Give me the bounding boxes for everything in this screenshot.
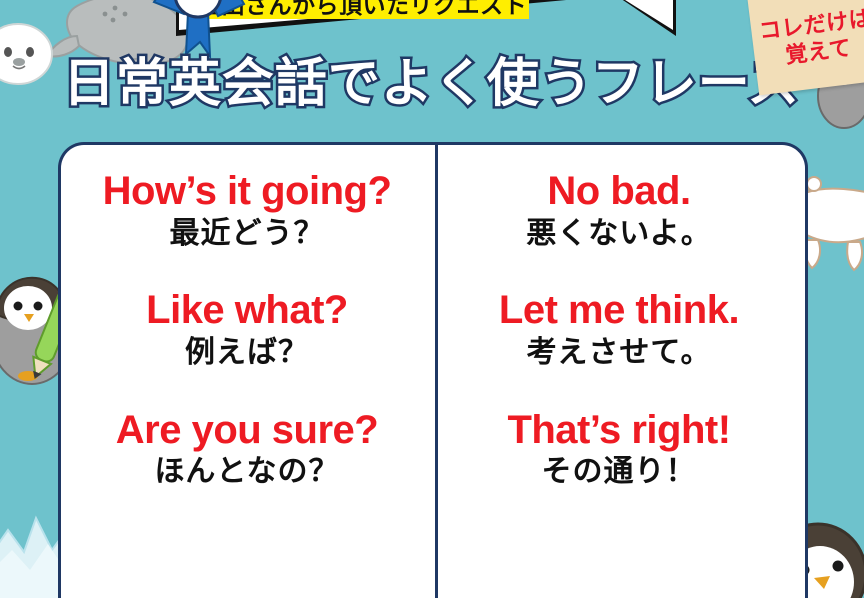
page-title: 日常英会話でよく使うフレーズ	[0, 56, 864, 113]
phrase-column-left: How’s it going? 最近どう？ Like what? 例えば？ Ar…	[61, 145, 433, 598]
phrase-japanese: 最近どう？	[61, 215, 433, 253]
phrase-english: That’s right!	[433, 408, 805, 453]
phrase-item: No bad. 悪くないよ。	[433, 169, 805, 252]
phrase-item: How’s it going? 最近どう？	[61, 169, 433, 252]
phrase-column-right: No bad. 悪くないよ。 Let me think. 考えさせて。 That…	[433, 145, 805, 598]
phrase-item: Let me think. 考えさせて。	[433, 288, 805, 371]
phrase-english: No bad.	[433, 169, 805, 214]
phrase-japanese: ほんとなの？	[61, 453, 433, 491]
phrase-english: Are you sure?	[61, 408, 433, 453]
phrase-item: That’s right! その通り！	[433, 408, 805, 491]
phrase-japanese: 悪くないよ。	[433, 215, 805, 253]
phrase-english: Like what?	[61, 288, 433, 333]
banner-title: 福田さんから頂いたリクエスト	[196, 0, 646, 17]
phrase-item: Like what? 例えば？	[61, 288, 433, 371]
phrase-japanese: 考えさせて。	[433, 334, 805, 372]
phrase-english: How’s it going?	[61, 169, 433, 214]
card-divider	[435, 145, 438, 598]
sticky-note: コレだけは 覚えて	[746, 0, 864, 95]
phrase-japanese: 例えば？	[61, 334, 433, 372]
phrase-card: How’s it going? 最近どう？ Like what? 例えば？ Ar…	[58, 142, 808, 598]
phrase-japanese: その通り！	[433, 453, 805, 491]
award-rosette-icon	[148, 0, 248, 60]
phrase-english: Let me think.	[433, 288, 805, 333]
phrase-item: Are you sure? ほんとなの？	[61, 408, 433, 491]
poster-canvas: 福田さんから頂いたリクエスト コレだけは 覚えて 日常英会話でよく使うフレーズ …	[0, 0, 864, 598]
